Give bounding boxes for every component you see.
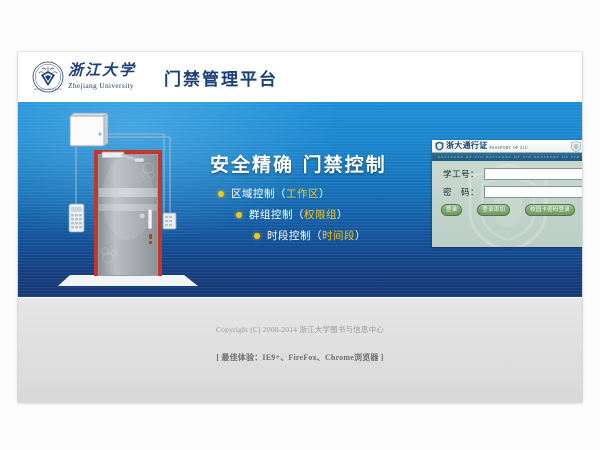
login-form: 学工号： 密 码： 登录 登录添加 校园卡密码登录 <box>432 161 582 216</box>
page-card: ZHEJIANG UNIVERSITY 浙江大学 Zhejiang Univer… <box>18 52 582 402</box>
form-row-userid: 学工号： <box>439 168 577 180</box>
controller-box <box>70 113 108 146</box>
hero-banner: 安全精确 门禁控制 区域控制（工作区） 群组控制（权限组） 时段控制（时间段） <box>18 102 582 297</box>
bullet-label: 区域控制（工作区） <box>231 186 330 201</box>
copyright-text: Copyright (C) 2008-2014 浙江大学图书与信息中心 <box>216 324 384 335</box>
yellow-dot-icon <box>254 233 260 239</box>
banner-headline: 安全精确 门禁控制 <box>210 150 387 177</box>
keypad-reader <box>69 204 84 232</box>
shield-badge-icon <box>571 141 581 152</box>
site-footer: Copyright (C) 2008-2014 浙江大学图书与信息中心 [ 最佳… <box>18 297 582 403</box>
list-item: 区域控制（工作区） <box>218 186 366 201</box>
university-name-en: Zhejiang University <box>68 81 136 90</box>
page-stage: ZHEJIANG UNIVERSITY 浙江大学 Zhejiang Univer… <box>0 0 600 450</box>
feature-bullet-list: 区域控制（工作区） 群组控制（权限组） 时段控制（时间段） <box>218 186 366 249</box>
yellow-dot-icon <box>236 212 242 218</box>
login-title-cn: 浙大通行证 <box>446 142 488 150</box>
campus-card-login-button[interactable]: 校园卡密码登录 <box>525 204 575 216</box>
yellow-dot-icon <box>218 191 224 197</box>
passport-watermark-text: PASSPORT OF ZJU PASSPORT OF ZJU PASSPORT… <box>432 155 582 159</box>
password-label: 密 码： <box>439 186 479 198</box>
zju-seal-icon: ZHEJIANG UNIVERSITY <box>32 61 64 93</box>
login-button[interactable]: 登录 <box>441 204 462 216</box>
list-item: 时段控制（时间段） <box>254 228 366 243</box>
login-add-button[interactable]: 登录添加 <box>477 204 510 216</box>
site-header: ZHEJIANG UNIVERSITY 浙江大学 Zhejiang Univer… <box>18 52 582 102</box>
page-title: 门禁管理平台 <box>164 65 278 90</box>
access-control-door-illustration <box>52 110 202 292</box>
login-panel: 浙大通行证 PASSPORT OF ZJU PASSPORT OF ZJU PA… <box>432 140 582 247</box>
login-title-en: PASSPORT OF ZJU <box>490 147 529 151</box>
form-row-password: 密 码： <box>439 186 577 198</box>
password-input[interactable] <box>484 186 582 198</box>
list-item: 群组控制（权限组） <box>236 207 366 222</box>
student-staff-id-label: 学工号： <box>439 168 479 180</box>
university-name-cn: 浙江大学 <box>68 64 136 80</box>
login-button-row: 登录 登录添加 校园卡密码登录 <box>439 204 577 216</box>
bullet-label: 群组控制（权限组） <box>249 207 348 222</box>
login-panel-header: 浙大通行证 PASSPORT OF ZJU <box>432 140 582 153</box>
bullet-label: 时段控制（时间段） <box>267 228 366 243</box>
browser-support-text: [ 最佳体验：IE9+、FireFox、Chrome浏览器 ] <box>216 352 383 363</box>
floor-plate <box>58 275 198 286</box>
student-staff-id-input[interactable] <box>484 168 582 180</box>
university-logo: ZHEJIANG UNIVERSITY 浙江大学 Zhejiang Univer… <box>32 61 136 93</box>
card-reader <box>163 213 176 229</box>
passport-watermark-strip: PASSPORT OF ZJU PASSPORT OF ZJU PASSPORT… <box>432 153 582 161</box>
university-name: 浙江大学 Zhejiang University <box>68 64 136 90</box>
shield-icon <box>435 141 444 151</box>
